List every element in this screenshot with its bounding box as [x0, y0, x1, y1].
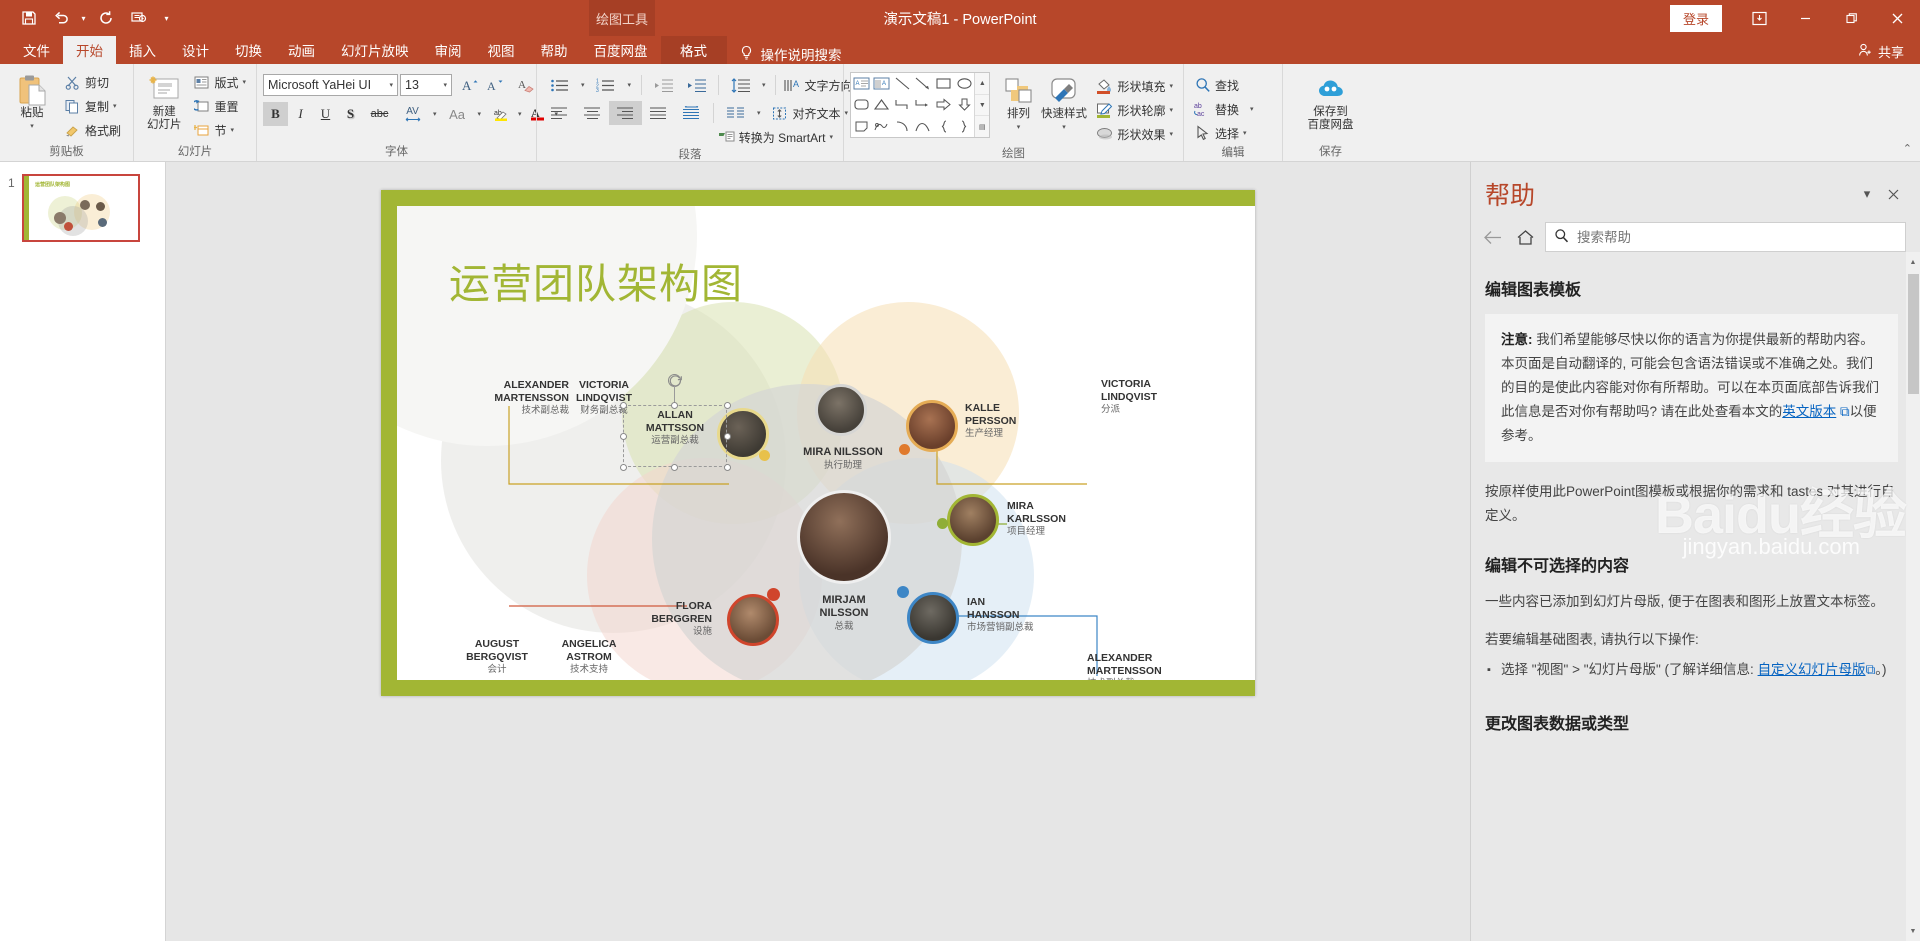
shape-fill-label: 形状填充 [1117, 78, 1165, 95]
divider [775, 75, 776, 95]
help-heading-1: 编辑图表模板 [1485, 276, 1898, 300]
svg-text:ac: ac [1197, 111, 1205, 117]
shape-rectangle[interactable] [933, 73, 954, 94]
shape-triangle[interactable] [872, 94, 893, 115]
shape-effects-icon [1096, 126, 1113, 143]
shape-outline-label: 形状轮廓 [1117, 102, 1165, 119]
redo-icon[interactable] [91, 4, 121, 32]
back-arrow-icon[interactable] [1479, 224, 1505, 250]
help-pane-scrollbar[interactable]: ▲ ▼ [1906, 252, 1920, 941]
arrange-button[interactable]: 排列 ▾ [997, 72, 1039, 134]
tab-slideshow[interactable]: 幻灯片放映 [328, 36, 422, 64]
external-link-icon: ⧉ [1840, 404, 1850, 419]
slide-canvas[interactable]: 运营团队架构图 ALEXANDER [381, 190, 1255, 696]
sign-in-button[interactable]: 登录 [1670, 5, 1722, 32]
thumb-blob [96, 202, 105, 211]
thumb-accent-band [24, 176, 29, 240]
text-direction-icon: A [784, 77, 801, 94]
avatar-dot [759, 450, 770, 461]
replace-dropdown-icon[interactable]: ▾ [1250, 105, 1254, 113]
justify-icon[interactable] [642, 101, 675, 125]
help-paragraph-2: 一些内容已添加到幻灯片母版, 便于在图表和图形上放置文本标签。 [1485, 590, 1898, 614]
format-painter-icon [64, 122, 81, 139]
resize-handle-w[interactable] [620, 433, 627, 440]
ribbon-group-paragraph: ▾ 123 ▾ ▾ [536, 64, 843, 161]
align-text-label: 对齐文本 [793, 105, 841, 122]
change-case-button[interactable]: Aa [441, 102, 474, 126]
avatar[interactable] [907, 592, 959, 644]
help-paragraph-1: 按原样使用此PowerPoint图模板或根据你的需求和 tastes 对其进行自… [1485, 480, 1898, 528]
replace-button[interactable]: abac 替换 ▾ [1190, 97, 1258, 121]
section-label: 节 [214, 122, 226, 139]
person-label[interactable]: ANGELICA ASTROM技术支持 [537, 638, 641, 677]
help-bullet-tail: 。) [1875, 662, 1886, 677]
lightbulb-icon [739, 45, 754, 64]
clear-formatting-icon[interactable]: A [513, 73, 538, 97]
align-text-icon [772, 105, 789, 122]
bold-button[interactable]: B [263, 102, 288, 126]
main-area: 1 运营团队架构图 [0, 162, 1920, 941]
share-label: 共享 [1878, 42, 1904, 61]
align-center-icon[interactable] [576, 101, 609, 125]
find-button[interactable]: 查找 [1190, 73, 1258, 97]
tab-design[interactable]: 设计 [169, 36, 222, 64]
shapes-scroll-down-icon[interactable]: ▼ [975, 94, 989, 116]
svg-text:A: A [487, 79, 496, 93]
align-text-button[interactable]: 对齐文本 ▾ [768, 103, 853, 123]
font-name-dropdown-icon[interactable]: ▾ [389, 81, 393, 89]
columns-icon[interactable] [719, 101, 752, 125]
tab-view[interactable]: 视图 [475, 36, 528, 64]
help-search-box[interactable] [1545, 222, 1906, 252]
font-size-value: 13 [405, 78, 419, 92]
shapes-gallery-scrollbar[interactable]: ▲ ▼ ▤ [974, 73, 989, 137]
numbering-dropdown-icon[interactable]: ▾ [628, 81, 632, 89]
format-painter-label: 格式刷 [85, 122, 121, 139]
tab-format[interactable]: 格式 [661, 36, 727, 64]
shape-outline-button[interactable]: 形状轮廓 ▾ [1092, 98, 1177, 122]
grow-font-icon[interactable]: A [458, 73, 483, 97]
copy-label: 复制 [85, 98, 109, 115]
shape-oval[interactable] [954, 73, 975, 94]
shape-outline-dropdown-icon[interactable]: ▾ [1169, 106, 1173, 114]
shapes-scroll-up-icon[interactable]: ▲ [975, 73, 989, 94]
shape-folded-corner[interactable] [851, 116, 872, 137]
ribbon-display-options-icon[interactable] [1736, 0, 1782, 36]
person-label[interactable]: KALLE PERSSON生产经理 [965, 402, 1075, 441]
convert-to-smartart-button[interactable]: 转换为 SmartArt ▾ [714, 127, 837, 147]
character-spacing-dropdown-icon[interactable]: ▾ [433, 110, 437, 118]
svg-text:A: A [793, 79, 799, 89]
shape-outline-icon [1096, 102, 1113, 119]
text-shadow-button[interactable]: S [338, 102, 363, 126]
tab-animations[interactable]: 动画 [275, 36, 328, 64]
group-label-font: 字体 [257, 144, 536, 161]
external-link-icon: ⧉ [1866, 662, 1876, 677]
tab-home[interactable]: 开始 [63, 36, 116, 64]
underline-button[interactable]: U [313, 102, 338, 126]
divider [718, 75, 719, 95]
contextual-tool-label: 绘图工具 [589, 0, 655, 36]
layout-dropdown-icon[interactable]: ▾ [242, 78, 246, 86]
shape-rounded-rectangle[interactable] [851, 94, 872, 115]
numbering-icon[interactable]: 123 [590, 73, 623, 97]
resize-handle-nw[interactable] [620, 402, 627, 409]
font-size-combo[interactable]: 13 ▾ [400, 74, 452, 96]
tab-help[interactable]: 帮助 [528, 36, 581, 64]
line-spacing-dropdown-icon[interactable]: ▾ [762, 81, 766, 89]
help-bullet-view: 视图 [1537, 662, 1564, 677]
start-slideshow-icon[interactable] [123, 4, 153, 32]
tell-me-search[interactable]: 操作说明搜索 [727, 44, 842, 64]
shape-textbox[interactable]: A [851, 73, 872, 94]
ribbon-group-slides: 新建 幻灯片 版式 ▾ 重置 [133, 64, 256, 161]
help-bullet-prefix: 选择 " [1501, 662, 1537, 677]
increase-indent-icon[interactable] [680, 73, 713, 97]
strikethrough-button[interactable]: abc [363, 102, 396, 126]
select-label: 选择 [1215, 125, 1239, 142]
font-name-combo[interactable]: Microsoft YaHei UI ▾ [263, 74, 398, 96]
thumb-blob [54, 212, 66, 224]
person-label[interactable]: VICTORIA LINDQVIST分派 [1101, 378, 1221, 417]
svg-text:A: A [855, 81, 859, 87]
bullets-icon[interactable] [543, 73, 576, 97]
layout-icon [193, 74, 210, 91]
baidu-netdisk-icon [1316, 72, 1346, 106]
svg-text:A: A [462, 78, 472, 93]
thumbnail-number: 1 [8, 174, 22, 242]
resize-handle-s[interactable] [671, 464, 678, 471]
format-painter-button[interactable]: 格式刷 [60, 118, 125, 142]
copy-button[interactable]: 复制 ▾ [60, 94, 125, 118]
shape-effects-label: 形状效果 [1117, 126, 1165, 143]
section-icon [193, 122, 210, 139]
help-close-icon[interactable] [1880, 181, 1906, 207]
help-heading-2: 编辑不可选择的内容 [1485, 552, 1898, 576]
character-spacing-button[interactable]: AV [396, 102, 429, 126]
help-minimize-icon[interactable]: ▾ [1854, 181, 1880, 207]
shape-line[interactable] [892, 73, 913, 94]
document-title: 演示文稿1 - PowerPoint [0, 8, 1920, 29]
shape-left-brace[interactable] [933, 116, 954, 137]
clipboard-icon [17, 73, 48, 107]
section-button[interactable]: 节 ▾ [189, 118, 250, 142]
shape-fill-button[interactable]: 形状填充 ▾ [1092, 74, 1177, 98]
divider [641, 75, 642, 95]
select-dropdown-icon[interactable]: ▾ [1243, 129, 1247, 137]
smartart-dropdown-icon[interactable]: ▾ [829, 133, 833, 141]
svg-text:A: A [518, 79, 526, 91]
title-bar: ▾ ▾ 演示文稿1 - PowerPoint 绘图工具 登录 [0, 0, 1920, 36]
layout-button[interactable]: 版式 ▾ [189, 70, 250, 94]
scroll-thumb[interactable] [1908, 274, 1919, 394]
select-button[interactable]: 选择 ▾ [1190, 121, 1258, 145]
group-label-clipboard: 剪贴板 [0, 144, 133, 161]
scroll-down-icon[interactable]: ▼ [1907, 923, 1919, 939]
center-person-label[interactable]: MIRJAM NILSSON总裁 [774, 594, 914, 633]
resize-handle-e[interactable] [724, 433, 731, 440]
customize-qat-icon[interactable]: ▾ [161, 14, 172, 23]
thumbnail-row: 1 运营团队架构图 [0, 174, 165, 242]
thumb-title: 运营团队架构图 [35, 181, 70, 188]
change-case-dropdown-icon[interactable]: ▾ [478, 110, 482, 118]
shape-vertical-textbox[interactable]: A [872, 73, 893, 94]
new-slide-button[interactable]: 新建 幻灯片 [140, 70, 188, 132]
quick-access-toolbar: ▾ ▾ [0, 4, 172, 32]
find-label: 查找 [1215, 77, 1239, 94]
cut-label: 剪切 [85, 74, 109, 91]
tab-transitions[interactable]: 切换 [222, 36, 275, 64]
ribbon-group-clipboard: 粘贴 ▾ 剪切 复制 ▾ [0, 64, 133, 161]
new-slide-icon [148, 72, 180, 106]
quick-styles-icon [1048, 74, 1080, 108]
shape-down-arrow[interactable] [954, 94, 975, 115]
help-paragraph-3: 若要编辑基础图表, 请执行以下操作: [1485, 628, 1898, 652]
smartart-icon [718, 129, 735, 146]
minimize-button[interactable] [1782, 0, 1828, 36]
scroll-up-icon[interactable]: ▲ [1907, 254, 1919, 270]
avatar[interactable] [947, 494, 999, 546]
save-to-baidu-netdisk-button[interactable]: 保存到 百度网盘 [1291, 70, 1371, 132]
share-button[interactable]: 共享 [1858, 42, 1904, 61]
slide-thumbnail-1[interactable]: 运营团队架构图 [22, 174, 140, 242]
shape-effects-dropdown-icon[interactable]: ▾ [1169, 130, 1173, 138]
ribbon: 粘贴 ▾ 剪切 复制 ▾ [0, 64, 1920, 162]
replace-label: 替换 [1215, 101, 1239, 118]
help-pane: 帮助 ▾ 编辑图表模板 注意: 我们希望能够尽快以你的语言为你提 [1470, 162, 1920, 941]
avatar-dot [937, 518, 948, 529]
group-label-slides: 幻灯片 [134, 144, 256, 161]
shape-fill-icon [1096, 78, 1113, 95]
person-label[interactable]: IAN HANSSON市场营销副总裁 [967, 596, 1092, 635]
align-left-icon[interactable] [543, 101, 576, 125]
shape-curve[interactable] [913, 116, 934, 137]
help-pane-title: 帮助 [1485, 176, 1854, 212]
shrink-font-icon[interactable]: A [483, 73, 508, 97]
avatar[interactable] [815, 384, 867, 436]
shapes-gallery-more-icon[interactable]: ▤ [975, 115, 989, 137]
slide-editor[interactable]: 运营团队架构图 ALEXANDER [166, 162, 1470, 941]
person-label[interactable]: AUGUST BERGQVIST会计 [445, 638, 549, 677]
divider [713, 103, 714, 123]
cut-button[interactable]: 剪切 [60, 70, 125, 94]
person-label[interactable]: MIRA KARLSSON项目经理 [1007, 500, 1117, 539]
person-label[interactable]: FLORA BERGGREN设施 [602, 600, 712, 639]
ribbon-group-font: Microsoft YaHei UI ▾ 13 ▾ A A A B [256, 64, 536, 161]
shape-elbow-connector[interactable] [892, 94, 913, 115]
shape-right-arrow[interactable] [933, 94, 954, 115]
close-button[interactable] [1874, 0, 1920, 36]
bullets-dropdown-icon[interactable]: ▾ [581, 81, 585, 89]
tab-baidu-netdisk[interactable]: 百度网盘 [581, 36, 661, 64]
copy-dropdown-icon[interactable]: ▾ [113, 102, 117, 110]
shape-arc[interactable] [892, 116, 913, 137]
text-highlight-icon[interactable]: ab [489, 102, 514, 126]
align-right-icon[interactable] [609, 101, 642, 125]
arrange-dropdown-icon[interactable]: ▾ [1017, 121, 1021, 134]
restore-button[interactable] [1828, 0, 1874, 36]
arrange-label: 排列 [1007, 108, 1030, 121]
group-label-editing: 编辑 [1184, 145, 1282, 162]
tab-file[interactable]: 文件 [10, 36, 63, 64]
columns-dropdown-icon[interactable]: ▾ [757, 109, 761, 117]
save-icon[interactable] [14, 4, 44, 32]
ribbon-group-editing: 查找 abac 替换 ▾ 选择 ▾ 编辑 [1183, 64, 1282, 161]
help-pane-content: 编辑图表模板 注意: 我们希望能够尽快以你的语言为你提供最新的帮助内容。本页面是… [1471, 252, 1920, 941]
shape-effects-button[interactable]: 形状效果 ▾ [1092, 122, 1177, 146]
quick-styles-button[interactable]: 快速样式 ▾ [1040, 72, 1089, 134]
italic-button[interactable]: I [288, 102, 313, 126]
paste-button[interactable]: 粘贴 ▾ [6, 70, 58, 133]
distribute-icon[interactable] [675, 101, 708, 125]
convert-to-smartart-label: 转换为 SmartArt [739, 129, 826, 146]
line-spacing-icon[interactable] [724, 73, 757, 97]
search-icon [1554, 228, 1569, 246]
help-bullet-link[interactable]: 自定义幻灯片母版 [1758, 662, 1866, 677]
share-person-icon [1858, 43, 1873, 60]
undo-dropdown-icon[interactable]: ▾ [78, 14, 89, 23]
group-label-drawing: 绘图 [844, 146, 1183, 163]
undo-icon[interactable] [46, 4, 76, 32]
svg-text:3: 3 [596, 88, 599, 93]
thumb-blob [80, 200, 90, 210]
text-highlight-dropdown-icon[interactable]: ▾ [518, 110, 522, 118]
svg-text:ab: ab [1194, 103, 1202, 110]
arrange-icon [1003, 74, 1034, 108]
thumb-blob [98, 218, 107, 227]
layout-label: 版式 [214, 74, 238, 91]
help-heading-3: 更改图表数据或类型 [1485, 710, 1898, 734]
collapse-ribbon-icon[interactable]: ⌃ [1903, 142, 1912, 155]
paste-dropdown-icon[interactable]: ▾ [30, 120, 34, 133]
resize-handle-ne[interactable] [724, 402, 731, 409]
shape-elbow-arrow-connector[interactable] [913, 94, 934, 115]
shapes-gallery[interactable]: A A [850, 72, 990, 138]
decrease-indent-icon[interactable] [647, 73, 680, 97]
tab-insert[interactable]: 插入 [116, 36, 169, 64]
quick-styles-dropdown-icon[interactable]: ▾ [1062, 121, 1066, 134]
help-note-label: 注意: [1501, 332, 1533, 347]
copy-icon [64, 98, 81, 115]
person-label[interactable]: ALEXANDER MARTENSSON技术副总裁 [1087, 652, 1217, 691]
save-to-baidu-label: 保存到 百度网盘 [1308, 106, 1354, 132]
avatar[interactable] [906, 400, 958, 452]
help-search-input[interactable] [1577, 230, 1897, 245]
ribbon-group-drawing: A A [843, 64, 1183, 161]
quick-styles-label: 快速样式 [1041, 108, 1087, 121]
resize-handle-sw[interactable] [620, 464, 627, 471]
resize-handle-se[interactable] [724, 464, 731, 471]
avatar[interactable] [727, 594, 779, 646]
font-size-dropdown-icon[interactable]: ▾ [443, 81, 447, 89]
center-person-label[interactable]: MIRA NILSSON执行助理 [773, 446, 913, 472]
tab-review[interactable]: 审阅 [422, 36, 475, 64]
help-note-link[interactable]: 英文版本 [1782, 404, 1836, 419]
help-bullet-mid: " > "幻灯片母版" (了解详细信息: [1564, 662, 1758, 677]
resize-handle-n[interactable] [671, 402, 678, 409]
slide-thumbnail-pane: 1 运营团队架构图 [0, 162, 166, 941]
svg-text:A: A [882, 81, 886, 87]
ribbon-tab-strip: 文件 开始 插入 设计 切换 动画 幻灯片放映 审阅 视图 帮助 百度网盘 格式… [0, 36, 1920, 64]
reset-button[interactable]: 重置 [189, 94, 250, 118]
reset-label: 重置 [214, 98, 238, 115]
reset-icon [193, 98, 210, 115]
scissors-icon [64, 74, 81, 91]
shape-fill-dropdown-icon[interactable]: ▾ [1169, 82, 1173, 90]
help-bullet-1: 选择 "视图" > "幻灯片母版" (了解详细信息: 自定义幻灯片母版⧉。) [1485, 658, 1898, 682]
find-icon [1194, 77, 1211, 94]
thumb-blob [64, 222, 73, 231]
group-label-save: 保存 [1283, 144, 1378, 161]
font-name-value: Microsoft YaHei UI [268, 78, 371, 92]
shape-arrow[interactable] [913, 73, 934, 94]
home-icon[interactable] [1512, 224, 1538, 250]
select-icon [1194, 125, 1211, 142]
new-slide-label: 新建 幻灯片 [147, 106, 182, 132]
tell-me-label: 操作说明搜索 [761, 44, 842, 64]
selection-bounding-box [623, 405, 727, 467]
replace-icon: abac [1194, 101, 1211, 118]
avatar[interactable] [797, 490, 891, 584]
section-dropdown-icon[interactable]: ▾ [230, 126, 234, 134]
shape-freeform[interactable] [872, 116, 893, 137]
shape-right-brace[interactable] [954, 116, 975, 137]
paste-label: 粘贴 [21, 107, 44, 120]
ribbon-group-save: 保存到 百度网盘 保存 [1282, 64, 1378, 161]
help-note-block: 注意: 我们希望能够尽快以你的语言为你提供最新的帮助内容。本页面是自动翻译的, … [1485, 314, 1898, 462]
